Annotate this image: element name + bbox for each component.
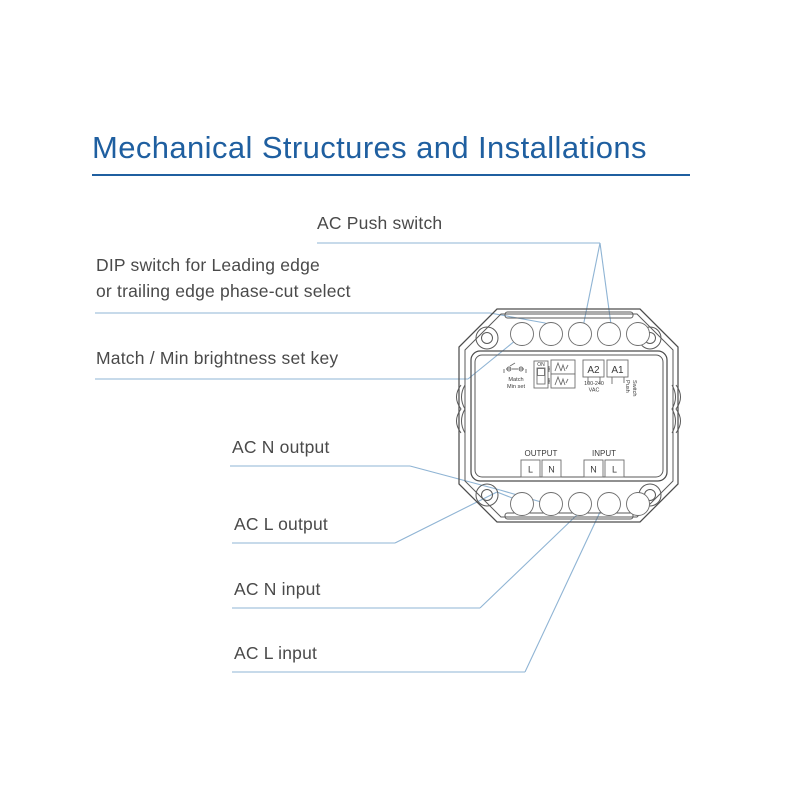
leader-ac-push-switch: [317, 243, 612, 332]
callout-dip-switch-line2: or trailing edge phase-cut select: [96, 278, 351, 304]
match-min-set-symbol: [504, 363, 526, 373]
callout-dip-switch: DIP switch for Leading edge or trailing …: [96, 252, 351, 304]
callout-ac-l-input: AC L input: [234, 643, 317, 664]
callout-ac-n-input: AC N input: [234, 579, 321, 600]
input-header: INPUT: [592, 449, 616, 458]
push-switch-label-line2: Switch: [631, 380, 637, 396]
callout-ac-push-switch: AC Push switch: [317, 213, 442, 234]
terminal-a2-label: A2: [587, 365, 600, 376]
callout-ac-l-output-text: AC L output: [234, 514, 328, 534]
dip-on-label: ON: [537, 362, 545, 368]
output-pin-n: N: [548, 465, 555, 475]
push-switch-label-line1: Push: [624, 380, 630, 393]
input-pin-n: N: [590, 465, 597, 475]
callout-ac-n-output-text: AC N output: [232, 437, 330, 457]
callout-ac-push-switch-text: AC Push switch: [317, 213, 442, 233]
page-title: Mechanical Structures and Installations: [92, 130, 647, 166]
callout-ac-n-input-text: AC N input: [234, 579, 321, 599]
callout-match-min-set: Match / Min brightness set key: [96, 348, 338, 369]
output-header: OUTPUT: [525, 449, 558, 458]
output-pin-l: L: [528, 465, 533, 475]
device-module: Match Min set ON: [457, 309, 681, 522]
match-label-line2: Min set: [507, 384, 525, 390]
callout-match-min-set-text: Match / Min brightness set key: [96, 348, 338, 368]
match-label-line1: Match: [508, 377, 523, 383]
input-pin-l: L: [612, 465, 617, 475]
voltage-label-line2: VAC: [589, 388, 600, 394]
top-flange-rail: [505, 312, 633, 318]
callout-dip-switch-line1: DIP switch for Leading edge: [96, 252, 351, 278]
voltage-label-line1: 100-240: [584, 381, 604, 387]
waveform-boxes: [551, 360, 575, 388]
technical-drawing: .ln{fill:none;stroke:#8FB4D4;stroke-widt…: [0, 0, 800, 800]
terminal-holes-top: [511, 323, 650, 346]
terminal-holes-bottom: [511, 493, 650, 516]
leader-ac-n-output: [230, 466, 548, 504]
terminal-a1-label: A1: [611, 365, 624, 376]
diagram-canvas: .ln{fill:none;stroke:#8FB4D4;stroke-widt…: [0, 0, 800, 800]
callout-ac-l-output: AC L output: [234, 514, 328, 535]
callout-ac-n-output: AC N output: [232, 437, 330, 458]
mounting-screws: [476, 327, 661, 506]
callout-ac-l-input-text: AC L input: [234, 643, 317, 663]
